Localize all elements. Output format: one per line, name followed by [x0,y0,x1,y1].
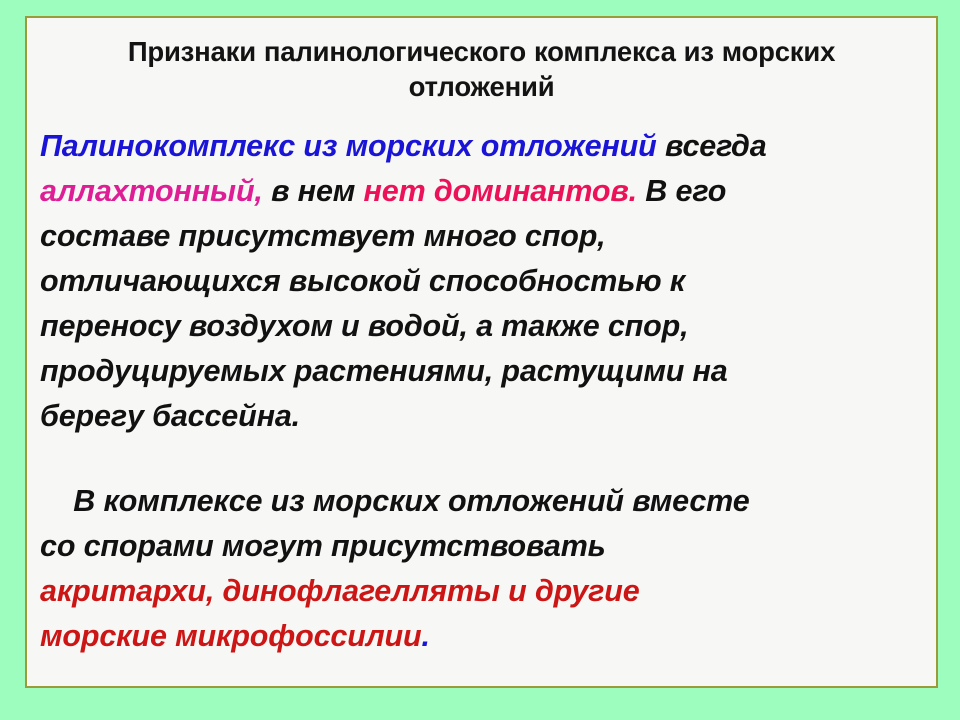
highlight-net-dominantov: нет доминантов. [364,174,637,208]
final-period: . [421,619,429,653]
title-line-1: Признаки палинологического комплекса из … [128,36,835,67]
paragraph-1-line-3: составе присутствует много спор, [40,214,922,259]
paragraph-1-line-5: переносу воздухом и водой, а также спор, [40,304,922,349]
slide: Признаки палинологического комплекса из … [0,0,960,720]
paragraph-1-line-4: отличающихся высокой способностью к [40,259,922,304]
title-line-2: отложений [409,71,555,102]
paragraph-1-line-7: берегу бассейна. [40,394,922,439]
content-panel: Признаки палинологического комплекса из … [25,16,938,688]
paragraph-1-line-2-tail: В его [637,174,726,208]
paragraph-1-line-6: продуцируемых растениями, растущими на [40,349,922,394]
paragraph-1-line-2: аллахтонный, в нем нет доминантов. В его [40,169,922,214]
paragraph-spacer [40,439,922,479]
paragraph-1: Палинокомплекс из морских отложений всег… [40,124,922,439]
paragraph-2-line-1: В комплексе из морских отложений вместе [40,479,922,524]
paragraph-2-line-3: акритархи, динофлагелляты и другие [40,569,922,614]
paragraph-1-line-2-mid: в нем [263,174,364,208]
paragraph-2-line-2: со спорами могут присутствовать [40,524,922,569]
highlight-allahtonny: аллахтонный, [40,174,263,208]
page-title: Признаки палинологического комплекса из … [27,18,936,104]
highlight-palinokompleks: Палинокомплекс из морских отложений [40,129,657,163]
paragraph-2-line-4: морские микрофоссилии. [40,614,922,659]
highlight-morskie-mikrofossilii: морские микрофоссилии [40,619,421,653]
paragraph-1-line-1-tail: всегда [657,129,767,163]
body-text: Палинокомплекс из морских отложений всег… [27,124,936,659]
paragraph-2: В комплексе из морских отложений вместе … [40,479,922,659]
paragraph-1-line-1: Палинокомплекс из морских отложений всег… [40,124,922,169]
